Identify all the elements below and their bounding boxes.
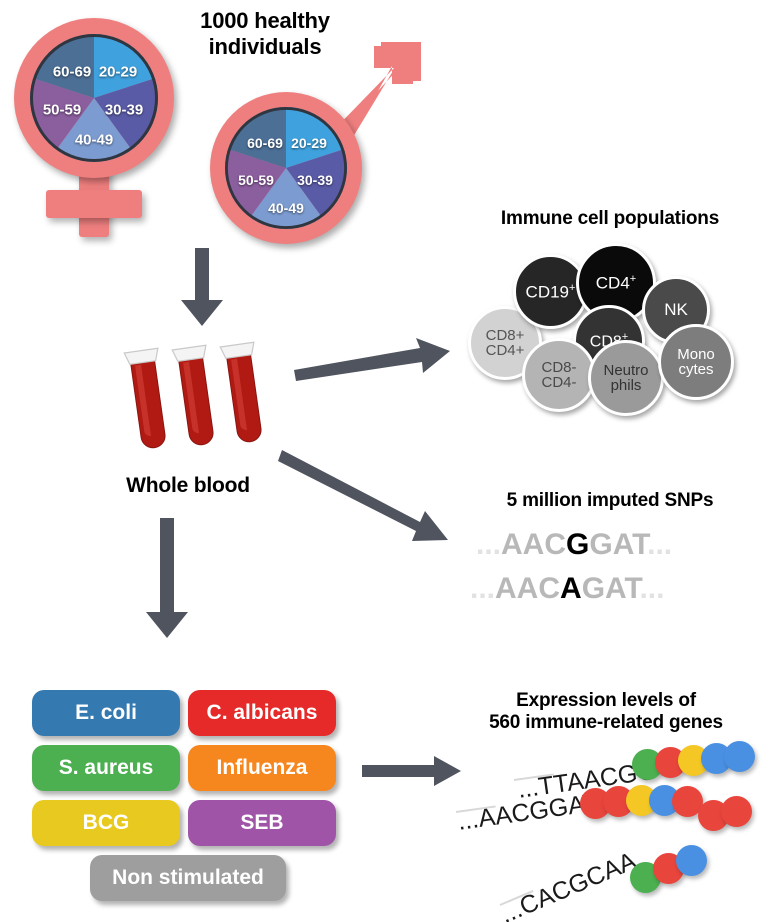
dna-bead bbox=[724, 741, 755, 772]
arrow-blood-to-stimuli bbox=[143, 518, 191, 640]
female-pie-svg bbox=[30, 34, 158, 162]
dna-bead bbox=[721, 796, 752, 827]
immune-cell-monocytes: Mono cytes bbox=[658, 324, 734, 400]
expression-heading-line1: Expression levels of bbox=[446, 690, 766, 712]
immune-cell-label-line2: CD4+ bbox=[486, 343, 525, 358]
female-age-pie: 20-29 30-39 40-49 50-59 60-69 bbox=[30, 34, 158, 162]
arrow-blood-to-snps bbox=[282, 448, 452, 546]
blood-tube bbox=[214, 338, 276, 450]
immune-cells-heading: Immune cell populations bbox=[455, 208, 765, 230]
immune-cell-label-line1: CD8+ bbox=[486, 328, 525, 343]
immune-cell-label-line2: cytes bbox=[677, 362, 715, 377]
snp-left: AAC bbox=[495, 572, 560, 605]
male-gender-symbol: 20-29 30-39 40-49 50-59 60-69 bbox=[200, 24, 425, 244]
immune-cell-label-line2: CD4- bbox=[541, 375, 576, 390]
whole-blood-label: Whole blood bbox=[88, 474, 288, 499]
expression-heading: Expression levels of 560 immune-related … bbox=[446, 690, 766, 735]
figure-canvas: 1000 healthy individuals 20-29 30-39 40-… bbox=[0, 0, 771, 922]
dna-bead bbox=[676, 845, 707, 876]
immune-cell-cd8n-cd4n: CD8- CD4- bbox=[522, 338, 596, 412]
stimulus-influenza[interactable]: Influenza bbox=[188, 745, 336, 791]
expression-heading-line2: 560 immune-related genes bbox=[446, 712, 766, 734]
immune-cell-label: CD4 bbox=[596, 274, 630, 293]
snp-right: GAT bbox=[589, 528, 647, 561]
sup-plus: + bbox=[569, 282, 575, 294]
male-age-pie: 20-29 30-39 40-49 50-59 60-69 bbox=[225, 107, 347, 229]
snp-right: GAT bbox=[582, 572, 640, 605]
dna-strand-2: ...AACGGAT bbox=[440, 778, 771, 838]
stimulus-non-stimulated[interactable]: Non stimulated bbox=[90, 855, 286, 901]
snp-variant-allele: G bbox=[566, 528, 589, 561]
snps-heading: 5 million imputed SNPs bbox=[455, 490, 765, 512]
snp-prefix: ... bbox=[470, 572, 495, 605]
immune-cell-label-line1: Neutro bbox=[603, 363, 648, 378]
stimulus-bcg[interactable]: BCG bbox=[32, 800, 180, 846]
male-pie-svg bbox=[225, 107, 347, 229]
sup-plus: + bbox=[630, 273, 636, 285]
immune-cell-label-line1: Mono bbox=[677, 347, 715, 362]
stimulus-seb[interactable]: SEB bbox=[188, 800, 336, 846]
snp-variant-allele: A bbox=[560, 572, 582, 605]
dna-strands: ...TTAACGG ...AACGGAT ...CACGCAA bbox=[440, 740, 771, 922]
immune-cell-label: CD19 bbox=[526, 282, 569, 301]
whole-blood-tubes bbox=[118, 338, 278, 448]
female-symbol-crossbar bbox=[46, 190, 142, 218]
stimulus-c-albicans[interactable]: C. albicans bbox=[188, 690, 336, 736]
snp-suffix: ... bbox=[647, 528, 672, 561]
dna-strand-3: ...CACGCAA bbox=[440, 832, 771, 922]
snp-sequence-row-2: ...AACAGAT... bbox=[470, 572, 664, 606]
strand-sequence: ...CACGCAA bbox=[496, 847, 640, 922]
immune-cell-neutrophils: Neutro phils bbox=[588, 340, 664, 416]
stimulus-e-coli[interactable]: E. coli bbox=[32, 690, 180, 736]
snp-left: AAC bbox=[501, 528, 566, 561]
immune-cell-cluster: CD8+ CD4+ CD19+ CD4+ CD8+ NK CD8- CD4- bbox=[460, 240, 760, 420]
strand-sequence: ...AACGGAT bbox=[456, 788, 600, 836]
immune-cell-label-line1: CD8- bbox=[541, 360, 576, 375]
stimulus-s-aureus[interactable]: S. aureus bbox=[32, 745, 180, 791]
snp-suffix: ... bbox=[639, 572, 664, 605]
snp-sequence-row-1: ...AACGGAT... bbox=[476, 528, 672, 562]
female-gender-symbol: 20-29 30-39 40-49 50-59 60-69 bbox=[8, 12, 188, 237]
arrow-blood-to-immune-cells bbox=[292, 338, 452, 380]
immune-cell-label: NK bbox=[664, 301, 688, 318]
arrow-cohort-to-blood bbox=[178, 248, 226, 328]
snp-prefix: ... bbox=[476, 528, 501, 561]
immune-cell-label-line2: phils bbox=[603, 378, 648, 393]
